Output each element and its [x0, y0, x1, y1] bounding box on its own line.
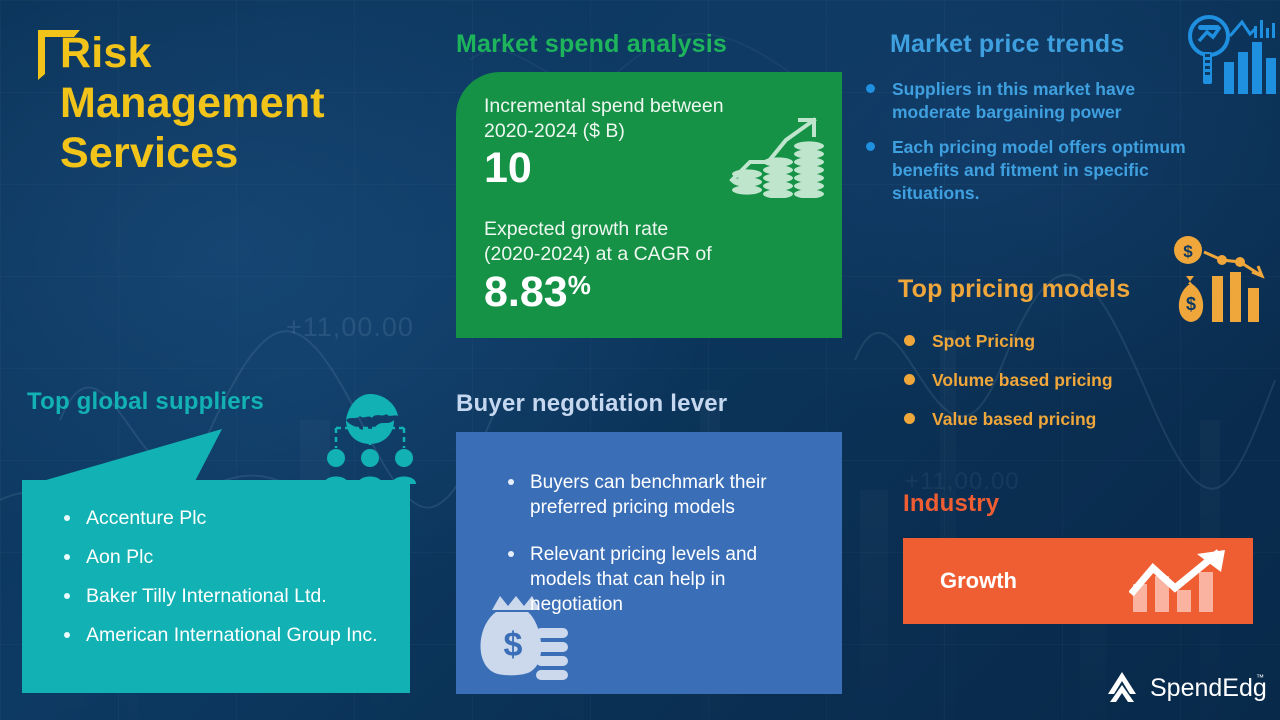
supplier-name: American International Group Inc.	[86, 624, 378, 646]
cagr-unit: %	[568, 270, 591, 300]
bullet-text: Suppliers in this market have moderate b…	[892, 79, 1135, 122]
list-item: Volume based pricing	[898, 369, 1198, 391]
supplier-list: Accenture Plc Aon Plc Baker Tilly Intern…	[34, 506, 404, 662]
trademark-symbol: ™	[1256, 673, 1264, 682]
list-item: Accenture Plc	[34, 506, 404, 531]
bullet-dot	[64, 632, 70, 638]
list-item: Spot Pricing	[898, 330, 1198, 352]
bullet-dot	[904, 374, 915, 385]
bullet-text: Each pricing model offers optimum benefi…	[892, 137, 1186, 203]
supplier-name: Baker Tilly International Ltd.	[86, 585, 327, 607]
list-item: Relevant pricing levels and models that …	[486, 542, 816, 617]
list-item: Each pricing model offers optimum benefi…	[862, 136, 1192, 205]
section-heading-market-spend: Market spend analysis	[456, 30, 727, 59]
svg-text:$: $	[1183, 242, 1193, 261]
incremental-spend-label: Incremental spend between 2020-2024 ($ B…	[484, 94, 724, 144]
market-price-trends-list: Suppliers in this market have moderate b…	[862, 78, 1192, 217]
list-item: Value based pricing	[898, 408, 1198, 430]
bullet-dot	[904, 413, 915, 424]
svg-text:$: $	[1186, 294, 1196, 314]
top-global-suppliers-card: Accenture Plc Aon Plc Baker Tilly Intern…	[22, 480, 410, 693]
list-item: Suppliers in this market have moderate b…	[862, 78, 1192, 124]
bullet-text: Value based pricing	[932, 409, 1096, 429]
bullet-dot	[866, 142, 875, 151]
list-item: Buyers can benchmark their preferred pri…	[486, 470, 816, 520]
cagr-label: Expected growth rate (2020-2024) at a CA…	[484, 217, 712, 267]
bullet-dot	[64, 515, 70, 521]
bullet-dot	[904, 335, 915, 346]
buyer-negotiation-lever-card: $ Buyers can benchmark their preferred p…	[456, 432, 842, 694]
bullet-dot	[866, 84, 875, 93]
bullet-text: Buyers can benchmark their preferred pri…	[530, 472, 767, 518]
title-block: Risk Management Services	[36, 28, 436, 178]
bullet-text: Relevant pricing levels and models that …	[530, 544, 757, 615]
industry-growth-badge: Growth	[903, 538, 1253, 624]
moneybag-declining-chart-icon: $ $	[1170, 232, 1274, 324]
supplier-name: Accenture Plc	[86, 507, 206, 529]
bullet-dot	[64, 554, 70, 560]
cagr-value-group: 8.83%	[484, 268, 591, 316]
coins-growth-icon	[728, 106, 824, 198]
market-spend-card: Incremental spend between 2020-2024 ($ B…	[456, 72, 842, 338]
buyer-negotiation-list: Buyers can benchmark their preferred pri…	[486, 470, 816, 639]
list-item: Baker Tilly International Ltd.	[34, 584, 404, 609]
globe-network-icon	[324, 392, 416, 484]
section-heading-industry: Industry	[903, 490, 999, 518]
background-ticker-value: +11,00.00	[286, 312, 414, 343]
bullet-dot	[508, 551, 514, 557]
cagr-value: 8.83	[484, 268, 568, 316]
bullet-text: Spot Pricing	[932, 331, 1035, 351]
brand-name: SpendEdge	[1150, 674, 1266, 702]
list-item: Aon Plc	[34, 545, 404, 570]
section-heading-market-price-trends: Market price trends	[890, 30, 1124, 59]
incremental-spend-value: 10	[484, 144, 532, 192]
section-heading-top-global-suppliers: Top global suppliers	[27, 388, 264, 416]
top-pricing-models-list: Spot Pricing Volume based pricing Value …	[898, 330, 1198, 447]
growth-arrow-icon	[1129, 548, 1237, 614]
list-item: American International Group Inc.	[34, 623, 404, 648]
status-badge: Growth	[940, 568, 1017, 594]
bullet-dot	[64, 593, 70, 599]
bullet-dot	[508, 479, 514, 485]
bullet-text: Volume based pricing	[932, 370, 1113, 390]
supplier-name: Aon Plc	[86, 546, 153, 568]
page-title: Risk Management Services	[60, 28, 436, 178]
section-heading-buyer-negotiation-lever: Buyer negotiation lever	[456, 390, 727, 418]
spendedge-logo: SpendEdge ™	[1106, 668, 1266, 708]
section-heading-top-pricing-models: Top pricing models	[898, 275, 1130, 304]
chart-search-icon	[1186, 14, 1278, 100]
infographic-slide: +11,00.00 +11,00.00 Risk Management Serv…	[0, 0, 1280, 720]
